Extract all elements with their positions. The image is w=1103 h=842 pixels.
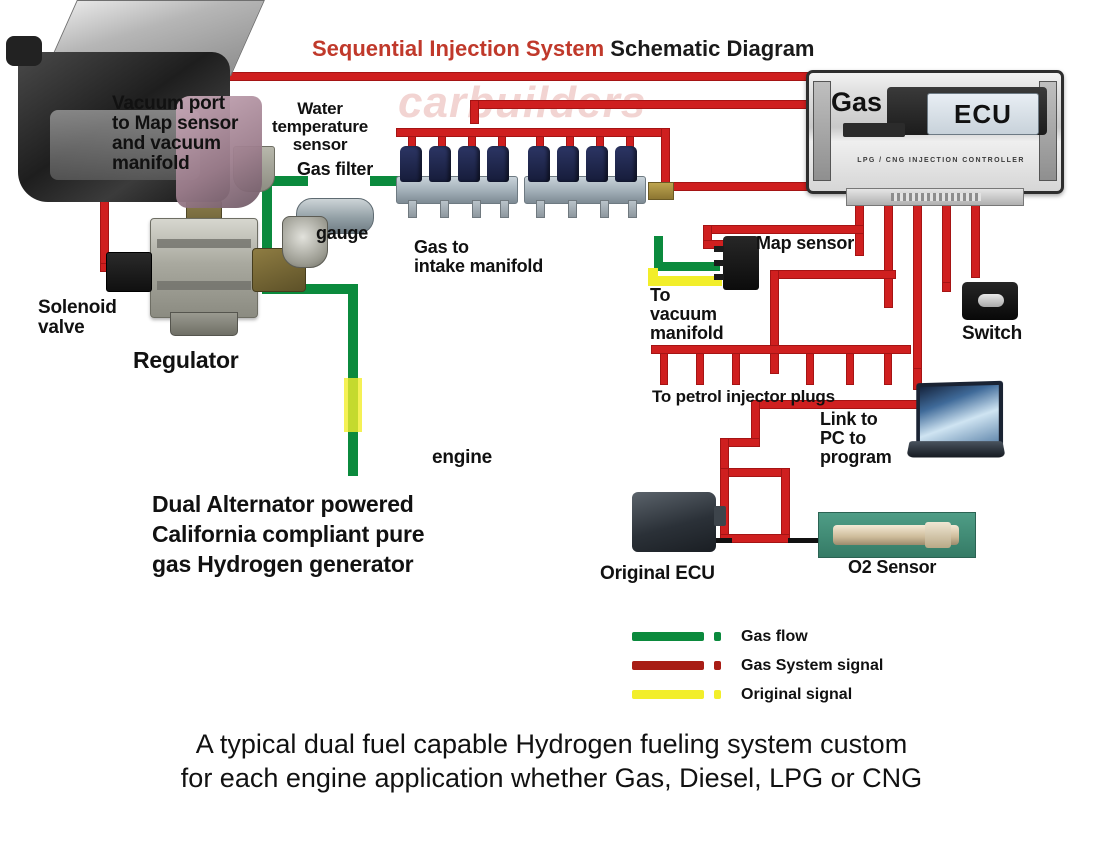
wire-green-map-feed-h: [654, 262, 720, 271]
wire-red-petrol-leg: [806, 353, 814, 385]
label-regulator: Regulator: [133, 348, 239, 372]
legend-label-gas-system-signal: Gas System signal: [741, 657, 883, 675]
wire-red-petrol-leg: [732, 353, 740, 385]
injector-left-stem-4: [500, 200, 509, 218]
switch-button[interactable]: [978, 294, 1004, 307]
map-sensor-pin-2: [714, 260, 724, 266]
wire-red-ecu-trunk-2: [884, 204, 893, 308]
map-sensor-device[interactable]: [723, 236, 759, 290]
gas-ecu-subtitle: LPG / CNG INJECTION CONTROLLER: [851, 157, 1031, 164]
page-title-black-part: Schematic Diagram: [604, 36, 814, 61]
label-to-petrol-injector-plugs: To petrol injector plugs: [652, 388, 835, 406]
gas-ecu-dark-hook: [843, 123, 905, 137]
injector-right-stem-4: [628, 200, 637, 218]
wire-red-ecu-trunk-3: [913, 204, 922, 376]
solenoid-valve-device[interactable]: [106, 252, 152, 292]
page-title: Sequential Injection System Schematic Di…: [312, 36, 815, 62]
regulator-band-bottom: [157, 281, 251, 290]
regulator-body[interactable]: [150, 218, 258, 318]
legend-dot-original-signal: [714, 690, 721, 699]
wire-red-mid-feed-v: [770, 270, 779, 374]
wire-red-petrol-leg: [846, 353, 854, 385]
wire-red-injector-bus-riser: [661, 128, 670, 190]
original-ecu-device[interactable]: [632, 492, 716, 552]
gas-ecu-gas-label: Gas: [831, 87, 882, 118]
o2-sensor-device[interactable]: [818, 512, 976, 558]
label-engine: engine: [432, 448, 492, 468]
o2-sensor-probe: [833, 525, 959, 545]
laptop-keyboard-base: [906, 441, 1005, 457]
label-original-ecu: Original ECU: [600, 564, 715, 584]
wire-red-oecu-leg-left: [720, 468, 729, 542]
legend-item-gas-system-signal: Gas System signal: [632, 651, 883, 680]
wire-red-switch-feed: [942, 282, 951, 292]
injector-left-stem-1: [408, 200, 417, 218]
wire-red-petrol-bus: [651, 345, 911, 354]
label-solenoid-valve: Solenoid valve: [38, 298, 117, 338]
label-o2-sensor: O2 Sensor: [848, 558, 936, 577]
engine-front-accessory: [6, 36, 42, 66]
wire-red-petrol-leg: [696, 353, 704, 385]
bottom-caption: A typical dual fuel capable Hydrogen fue…: [0, 728, 1103, 796]
wire-red-down-to-oecu-h3: [720, 468, 790, 477]
gas-ecu-device[interactable]: Gas ECU LPG / CNG INJECTION CONTROLLER: [806, 70, 1064, 194]
gas-ecu-ecu-label: ECU: [954, 99, 1012, 130]
legend-swatch-gas-system-signal: [632, 661, 704, 670]
legend-item-original-signal: Original signal: [632, 680, 883, 709]
regulator-band-top: [157, 239, 251, 248]
gas-ecu-connector: [846, 188, 1024, 206]
wire-yellow-generator-highlight: [344, 378, 362, 432]
map-sensor-pin-3: [714, 274, 724, 280]
legend-item-gas-flow: Gas flow: [632, 622, 883, 651]
legend: Gas flow Gas System signal Original sign…: [632, 622, 883, 709]
injector-right-1: [528, 146, 550, 182]
caption-line-2: for each engine application whether Gas,…: [0, 762, 1103, 796]
wire-red-petrol-leg: [884, 353, 892, 385]
laptop-device[interactable]: [908, 382, 1004, 468]
wire-green-map-feed-v: [654, 236, 663, 268]
legend-label-gas-flow: Gas flow: [741, 628, 808, 646]
label-generator-note: Dual Alternator powered California compl…: [152, 490, 424, 580]
legend-label-original-signal: Original signal: [741, 686, 852, 704]
wire-red-injector-bus-right: [661, 182, 827, 191]
wire-red-ecu-trunk-5: [971, 204, 980, 278]
label-vacuum-port: Vacuum port to Map sensor and vacuum man…: [112, 94, 238, 175]
wire-red-second-bus-drop: [470, 100, 479, 124]
legend-swatch-original-signal: [632, 690, 704, 699]
injector-left-1: [400, 146, 422, 182]
wire-red-oecu-leg-right: [781, 468, 790, 542]
injector-left-stem-3: [472, 200, 481, 218]
map-sensor-pin-1: [714, 246, 724, 252]
injector-right-4: [615, 146, 637, 182]
page-title-red-part: Sequential Injection System: [312, 36, 604, 61]
injector-right-stem-1: [536, 200, 545, 218]
original-ecu-connector: [714, 506, 726, 526]
injector-right-stem-3: [600, 200, 609, 218]
label-gas-filter: Gas filter: [297, 160, 373, 179]
injector-right-3: [586, 146, 608, 182]
gas-ecu-plate: ECU: [927, 93, 1039, 135]
legend-dot-gas-flow: [714, 632, 721, 641]
legend-dot-gas-system-signal: [714, 661, 721, 670]
label-link-to-pc: Link to PC to program: [820, 410, 892, 467]
injector-right-2: [557, 146, 579, 182]
injector-left-4: [487, 146, 509, 182]
wire-red-petrol-leg: [660, 353, 668, 385]
switch-device[interactable]: [962, 282, 1018, 320]
label-switch: Switch: [962, 324, 1022, 344]
injector-right-stem-2: [568, 200, 577, 218]
label-gauge: gauge: [316, 224, 368, 243]
caption-line-1: A typical dual fuel capable Hydrogen fue…: [0, 728, 1103, 762]
laptop-screen: [916, 381, 1003, 450]
label-gas-to-intake-manifold: Gas to intake manifold: [414, 238, 543, 276]
wire-red-second-bus: [470, 100, 826, 109]
injector-left-2: [429, 146, 451, 182]
wire-black-o2-lead: [788, 538, 822, 543]
wire-yellow-orig-signal-stub: [648, 268, 658, 280]
wire-red-ecu-trunk-4: [942, 204, 951, 290]
injector-left-stem-2: [440, 200, 449, 218]
legend-swatch-gas-flow: [632, 632, 704, 641]
injector-left-3: [458, 146, 480, 182]
wire-red-mid-feed-h: [770, 270, 896, 279]
label-to-vacuum-manifold: To vacuum manifold: [650, 286, 723, 343]
regulator-base: [170, 312, 238, 336]
gas-line-fitting: [648, 182, 674, 200]
schematic-diagram-canvas: Sequential Injection System Schematic Di…: [0, 0, 1103, 842]
gas-ecu-left-bracket: [813, 81, 831, 181]
label-water-temperature-sensor: Water temperature sensor: [272, 100, 368, 154]
label-map-sensor: Map sensor: [756, 234, 854, 253]
